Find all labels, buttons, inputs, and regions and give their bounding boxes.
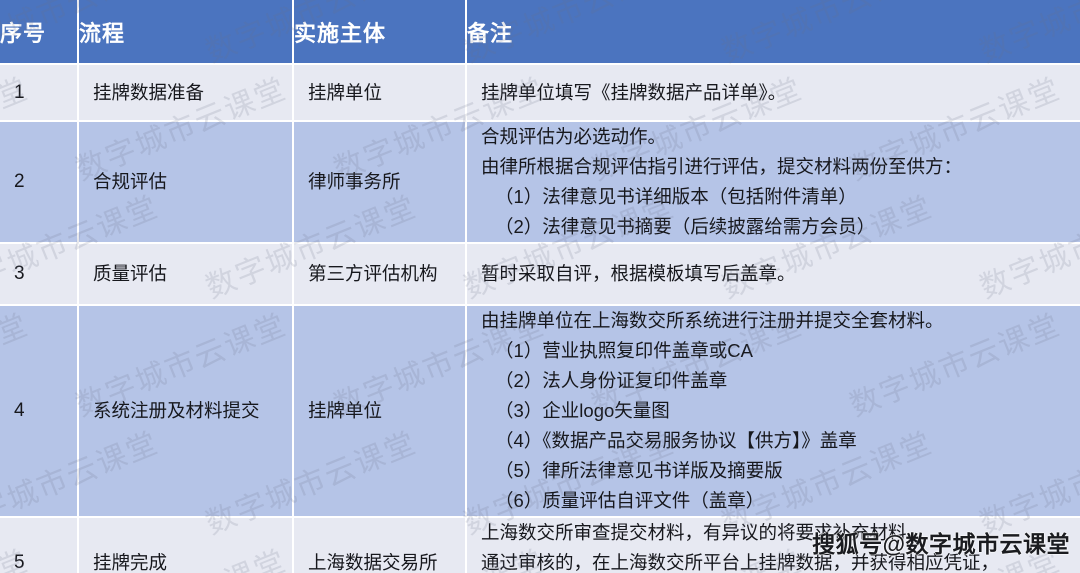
column-header-note: 备注 [466,0,1080,64]
remark-item: （2）法律意见书摘要（后续披露给需方会员） [481,212,1070,242]
cell-remarks: 挂牌单位填写《挂牌数据产品详单》。 [466,64,1080,121]
remark-line: 由挂牌单位在上海数交所系统进行注册并提交全套材料。 [481,306,1070,336]
cell-responsible-party: 挂牌单位 [293,64,466,121]
table-row: 2合规评估律师事务所合规评估为必选动作。由律所根据合规评估指引进行评估，提交材料… [0,121,1080,243]
remark-line: 暂时采取自评，根据模板填写后盖章。 [481,259,1070,289]
remark-item: （3）企业logo矢量图 [481,396,1070,426]
channel-watermark: 搜狐号@数字城市云课堂 [812,525,1070,559]
cell-process-name: 系统注册及材料提交 [78,305,293,517]
column-header-actor: 实施主体 [293,0,466,64]
cell-remarks: 暂时采取自评，根据模板填写后盖章。 [466,243,1080,305]
cell-sequence-number: 5 [0,517,78,573]
remark-line: 挂牌单位填写《挂牌数据产品详单》。 [481,78,1070,108]
cell-sequence-number: 3 [0,243,78,305]
remark-item: （4）《数据产品交易服务协议【供方】》盖章 [481,426,1070,456]
screenshot-root: 数字城市云课堂数字城市云课堂数字城市云课堂数字城市云课堂数字城市云课堂数字城市云… [0,0,1080,573]
cell-process-name: 挂牌数据准备 [78,64,293,121]
remark-item: （1）营业执照复印件盖章或CA [481,336,1070,366]
cell-process-name: 质量评估 [78,243,293,305]
cell-process-name: 挂牌完成 [78,517,293,573]
remark-item-list: （1）营业执照复印件盖章或CA（2）法人身份证复印件盖章（3）企业logo矢量图… [481,336,1070,516]
table-body: 1挂牌数据准备挂牌单位挂牌单位填写《挂牌数据产品详单》。2合规评估律师事务所合规… [0,64,1080,573]
cell-sequence-number: 2 [0,121,78,243]
cell-sequence-number: 4 [0,305,78,517]
header-row: 序号 流程 实施主体 备注 [0,0,1080,64]
table-row: 4系统注册及材料提交挂牌单位由挂牌单位在上海数交所系统进行注册并提交全套材料。（… [0,305,1080,517]
column-header-no: 序号 [0,0,78,64]
table-header: 序号 流程 实施主体 备注 [0,0,1080,64]
cell-responsible-party: 挂牌单位 [293,305,466,517]
cell-responsible-party: 上海数据交易所 [293,517,466,573]
remark-line: 合规评估为必选动作。 [481,122,1070,152]
cell-responsible-party: 律师事务所 [293,121,466,243]
cell-responsible-party: 第三方评估机构 [293,243,466,305]
cell-remarks: 合规评估为必选动作。由律所根据合规评估指引进行评估，提交材料两份至供方：（1）法… [466,121,1080,243]
process-table: 序号 流程 实施主体 备注 1挂牌数据准备挂牌单位挂牌单位填写《挂牌数据产品详单… [0,0,1080,573]
table-row: 3质量评估第三方评估机构暂时采取自评，根据模板填写后盖章。 [0,243,1080,305]
column-header-proc: 流程 [78,0,293,64]
remark-item: （2）法人身份证复印件盖章 [481,366,1070,396]
cell-process-name: 合规评估 [78,121,293,243]
remark-item: （6）质量评估自评文件（盖章） [481,486,1070,516]
table-row: 1挂牌数据准备挂牌单位挂牌单位填写《挂牌数据产品详单》。 [0,64,1080,121]
remark-item-list: （1）法律意见书详细版本（包括附件清单）（2）法律意见书摘要（后续披露给需方会员… [481,182,1070,242]
cell-remarks: 由挂牌单位在上海数交所系统进行注册并提交全套材料。（1）营业执照复印件盖章或CA… [466,305,1080,517]
remark-line: 由律所根据合规评估指引进行评估，提交材料两份至供方： [481,152,1070,182]
cell-sequence-number: 1 [0,64,78,121]
remark-item: （5）律所法律意见书详版及摘要版 [481,456,1070,486]
remark-item: （1）法律意见书详细版本（包括附件清单） [481,182,1070,212]
